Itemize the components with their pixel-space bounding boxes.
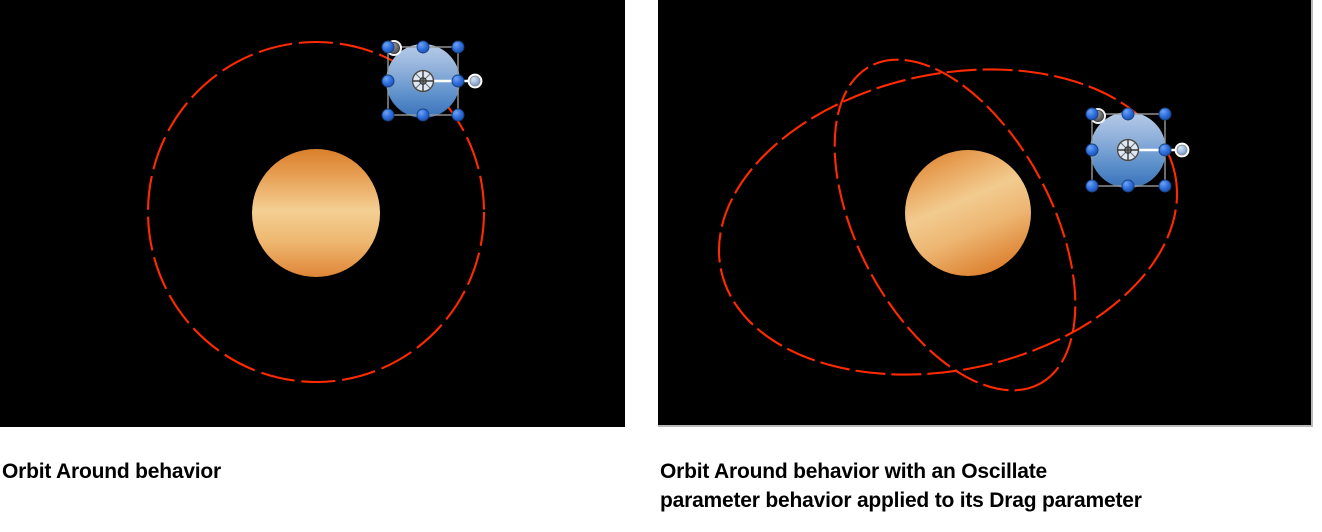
sun-object[interactable] (905, 150, 1031, 276)
figure-right-caption: Orbit Around behavior with an Oscillate … (658, 427, 1313, 515)
orbit-around-scene (0, 0, 625, 427)
figure-left: Orbit Around behavior (0, 0, 625, 486)
crosshair-icon[interactable] (413, 71, 434, 92)
handle-top-right[interactable] (1159, 108, 1171, 120)
sun-object[interactable] (252, 149, 380, 277)
outer-anchor-handle[interactable] (468, 74, 483, 89)
figure-left-caption: Orbit Around behavior (0, 427, 625, 486)
handle-top-left[interactable] (382, 41, 394, 53)
handle-top-left[interactable] (1086, 108, 1098, 120)
caption-line: Orbit Around behavior with an Oscillate (660, 457, 1313, 486)
handle-bottom-center[interactable] (417, 109, 429, 121)
handle-bottom-right[interactable] (1159, 180, 1171, 192)
handle-top-center[interactable] (417, 41, 429, 53)
orbit-around-canvas[interactable] (0, 0, 625, 427)
handle-bottom-left[interactable] (1086, 180, 1098, 192)
figure-right: Orbit Around behavior with an Oscillate … (658, 0, 1313, 515)
handle-middle-right[interactable] (1159, 144, 1171, 156)
handle-bottom-right[interactable] (452, 109, 464, 121)
handle-middle-left[interactable] (1086, 144, 1098, 156)
caption-line: parameter behavior applied to its Drag p… (660, 486, 1313, 515)
outer-anchor-handle[interactable] (1175, 143, 1190, 158)
caption-line: Orbit Around behavior (2, 457, 625, 486)
handle-bottom-left[interactable] (382, 109, 394, 121)
orbit-around-oscillate-scene (658, 0, 1311, 425)
figure-row: Orbit Around behavior (0, 0, 1322, 515)
crosshair-icon[interactable] (1118, 140, 1139, 161)
handle-middle-left[interactable] (382, 75, 394, 87)
handle-bottom-center[interactable] (1122, 180, 1134, 192)
orbit-around-oscillate-canvas[interactable] (658, 0, 1313, 427)
handle-top-center[interactable] (1122, 108, 1134, 120)
handle-top-right[interactable] (452, 41, 464, 53)
handle-middle-right[interactable] (452, 75, 464, 87)
